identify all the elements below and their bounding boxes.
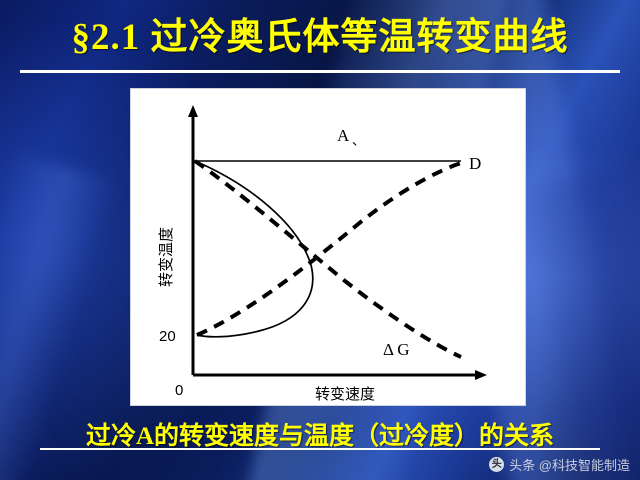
origin-label: 0 [175, 382, 183, 399]
y-tick-label-20: 20 [159, 328, 176, 345]
y-axis-label: 转变温度 [158, 227, 175, 287]
slide-title-block: §2.1 过冷奥氏体等温转变曲线 [0, 2, 640, 76]
caption-divider [40, 448, 600, 450]
watermark: 头 头条 @科技智能制造 [489, 455, 630, 474]
x-axis-label: 转变速度 [315, 386, 375, 403]
page-title: §2.1 过冷奥氏体等温转变曲线 [0, 6, 640, 60]
ttt-curve-chart: A 、 D Δ G 20 0 转变温度 转变速度 [131, 89, 525, 405]
curve-a-label: A [337, 126, 350, 145]
slide: §2.1 过冷奥氏体等温转变曲线 A 、 D Δ G [0, 0, 640, 480]
watermark-text: 头条 @科技智能制造 [509, 455, 630, 474]
delta-g-label: Δ G [383, 340, 410, 359]
figure-panel: A 、 D Δ G 20 0 转变温度 转变速度 [130, 88, 526, 406]
curve-d-label: D [469, 154, 481, 173]
curve-a-subscript: 、 [352, 133, 365, 148]
title-divider [20, 70, 620, 73]
watermark-logo-icon: 头 [489, 457, 504, 472]
slide-caption: 过冷A的转变速度与温度（过冷度）的关系 [0, 416, 640, 452]
